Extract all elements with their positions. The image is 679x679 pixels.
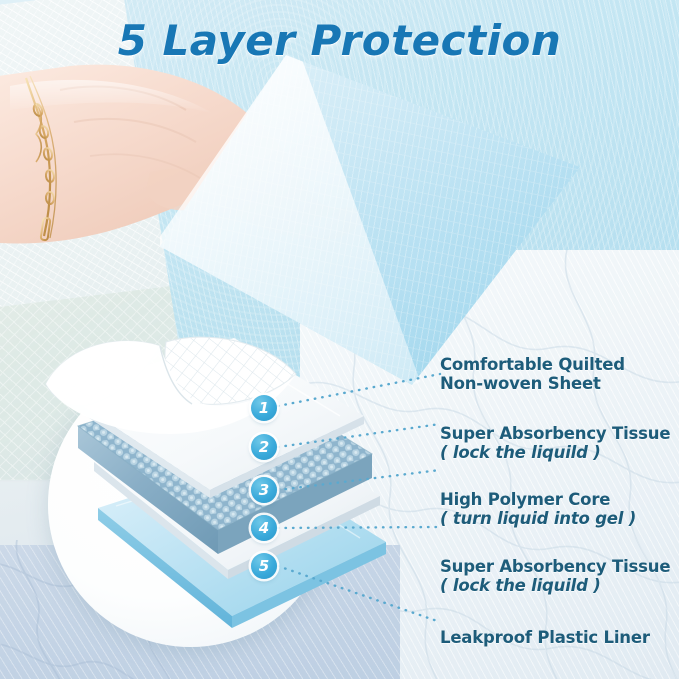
callout-label-4: Super Absorbency Tissue ( lock the liqui… xyxy=(440,557,679,596)
callout-label-3-sub: ( turn liquid into gel ) xyxy=(440,509,679,529)
callout-label-5-line1: Leakproof Plastic Liner xyxy=(440,628,679,647)
callout-badge-1[interactable]: 1 xyxy=(251,395,277,421)
callout-label-2-sub: ( lock the liquild ) xyxy=(440,443,679,463)
callout-label-3: High Polymer Core ( turn liquid into gel… xyxy=(440,490,679,529)
callout-label-1-line1: Comfortable Quilted xyxy=(440,355,679,374)
layer-stack-diagram xyxy=(20,330,390,670)
callout-label-4-sub: ( lock the liquild ) xyxy=(440,576,679,596)
infographic-canvas: 5 Layer Protection xyxy=(0,0,679,679)
callout-label-2: Super Absorbency Tissue ( lock the liqui… xyxy=(440,424,679,463)
page-title: 5 Layer Protection xyxy=(0,16,679,65)
callout-badge-4[interactable]: 4 xyxy=(251,515,277,541)
callout-label-4-line1: Super Absorbency Tissue xyxy=(440,557,679,576)
callout-badge-3[interactable]: 3 xyxy=(251,477,277,503)
callout-label-1-line2: Non-woven Sheet xyxy=(440,374,679,393)
callout-label-3-line1: High Polymer Core xyxy=(440,490,679,509)
callout-label-5: Leakproof Plastic Liner xyxy=(440,628,679,647)
callout-label-2-line1: Super Absorbency Tissue xyxy=(440,424,679,443)
callout-badge-2[interactable]: 2 xyxy=(251,434,277,460)
callout-badge-5[interactable]: 5 xyxy=(251,553,277,579)
callout-label-1: Comfortable Quilted Non-woven Sheet xyxy=(440,355,679,393)
